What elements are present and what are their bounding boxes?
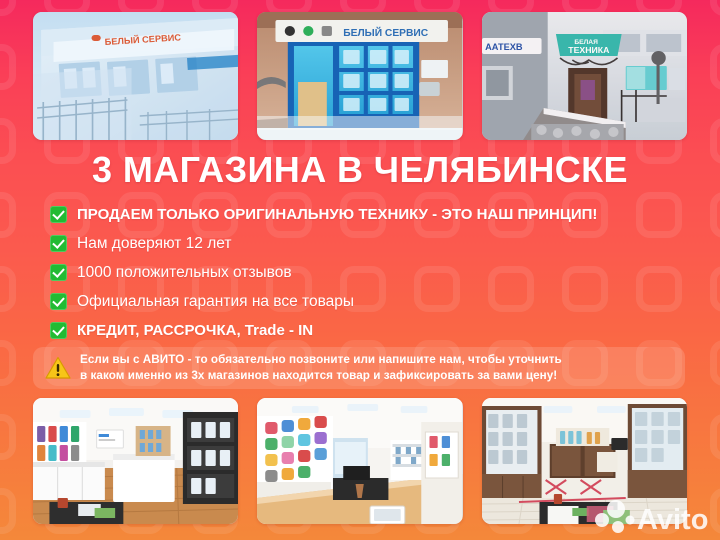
check-icon xyxy=(50,322,67,339)
svg-text:БЕЛЫЙ СЕРВИС: БЕЛЫЙ СЕРВИС xyxy=(344,26,430,39)
storefront-belaya-tehnika-illustration: ААТЕХВ БЕЛАЯ ТЕХНИКА xyxy=(482,12,687,140)
list-item: ПРОДАЕМ ТОЛЬКО ОРИГИНАЛЬНУЮ ТЕХНИКУ - ЭТ… xyxy=(50,200,690,229)
list-item: КРЕДИТ, РАССРОЧКА, Trade - IN xyxy=(50,316,690,345)
check-icon xyxy=(50,206,67,223)
list-item: Нам доверяют 12 лет xyxy=(50,229,690,258)
photo-interior-counter-accessories xyxy=(33,398,238,524)
bottom-photo-row xyxy=(33,398,687,524)
photo-interior-showcases-tile-floor xyxy=(482,398,687,524)
photo-interior-app-icons-wall xyxy=(257,398,462,524)
notice-text: Если вы с АВИТО - то обязательно позвони… xyxy=(80,352,562,384)
notice-line-2: в каком именно из 3х магазинов находится… xyxy=(80,368,562,384)
page-title: 3 МАГАЗИНА В ЧЕЛЯБИНСКЕ xyxy=(0,152,720,188)
list-item: Официальная гарантия на все товары xyxy=(50,287,690,316)
list-item-label: КРЕДИТ, РАССРОЧКА, Trade - IN xyxy=(77,323,313,338)
interior-app-wall-illustration xyxy=(257,398,462,524)
notice-line-1: Если вы с АВИТО - то обязательно позвони… xyxy=(80,352,562,368)
list-item: 1000 положительных отзывов xyxy=(50,258,690,287)
photo-storefront-bely-servis-corner: БЕЛЫЙ СЕРВИС xyxy=(33,12,238,140)
photo-storefront-belaya-tehnika: ААТЕХВ БЕЛАЯ ТЕХНИКА xyxy=(482,12,687,140)
benefits-list: ПРОДАЕМ ТОЛЬКО ОРИГИНАЛЬНУЮ ТЕХНИКУ - ЭТ… xyxy=(50,200,690,345)
list-item-label: Официальная гарантия на все товары xyxy=(77,294,354,310)
interior-counter-illustration xyxy=(33,398,238,524)
check-icon xyxy=(50,235,67,252)
storefront-corner-illustration: БЕЛЫЙ СЕРВИС xyxy=(33,12,238,140)
photo-storefront-bely-servis-blue-entrance: БЕЛЫЙ СЕРВИС xyxy=(257,12,462,140)
check-icon xyxy=(50,264,67,281)
list-item-label: ПРОДАЕМ ТОЛЬКО ОРИГИНАЛЬНУЮ ТЕХНИКУ - ЭТ… xyxy=(77,207,597,222)
warning-triangle-icon xyxy=(45,356,71,380)
interior-showcases-illustration xyxy=(482,398,687,524)
check-icon xyxy=(50,293,67,310)
top-photo-row: БЕЛЫЙ СЕРВИС xyxy=(33,12,687,140)
list-item-label: 1000 положительных отзывов xyxy=(77,265,292,281)
avito-notice-banner: Если вы с АВИТО - то обязательно позвони… xyxy=(33,347,685,389)
list-item-label: Нам доверяют 12 лет xyxy=(77,236,231,252)
storefront-blue-entrance-illustration: БЕЛЫЙ СЕРВИС xyxy=(257,12,462,140)
